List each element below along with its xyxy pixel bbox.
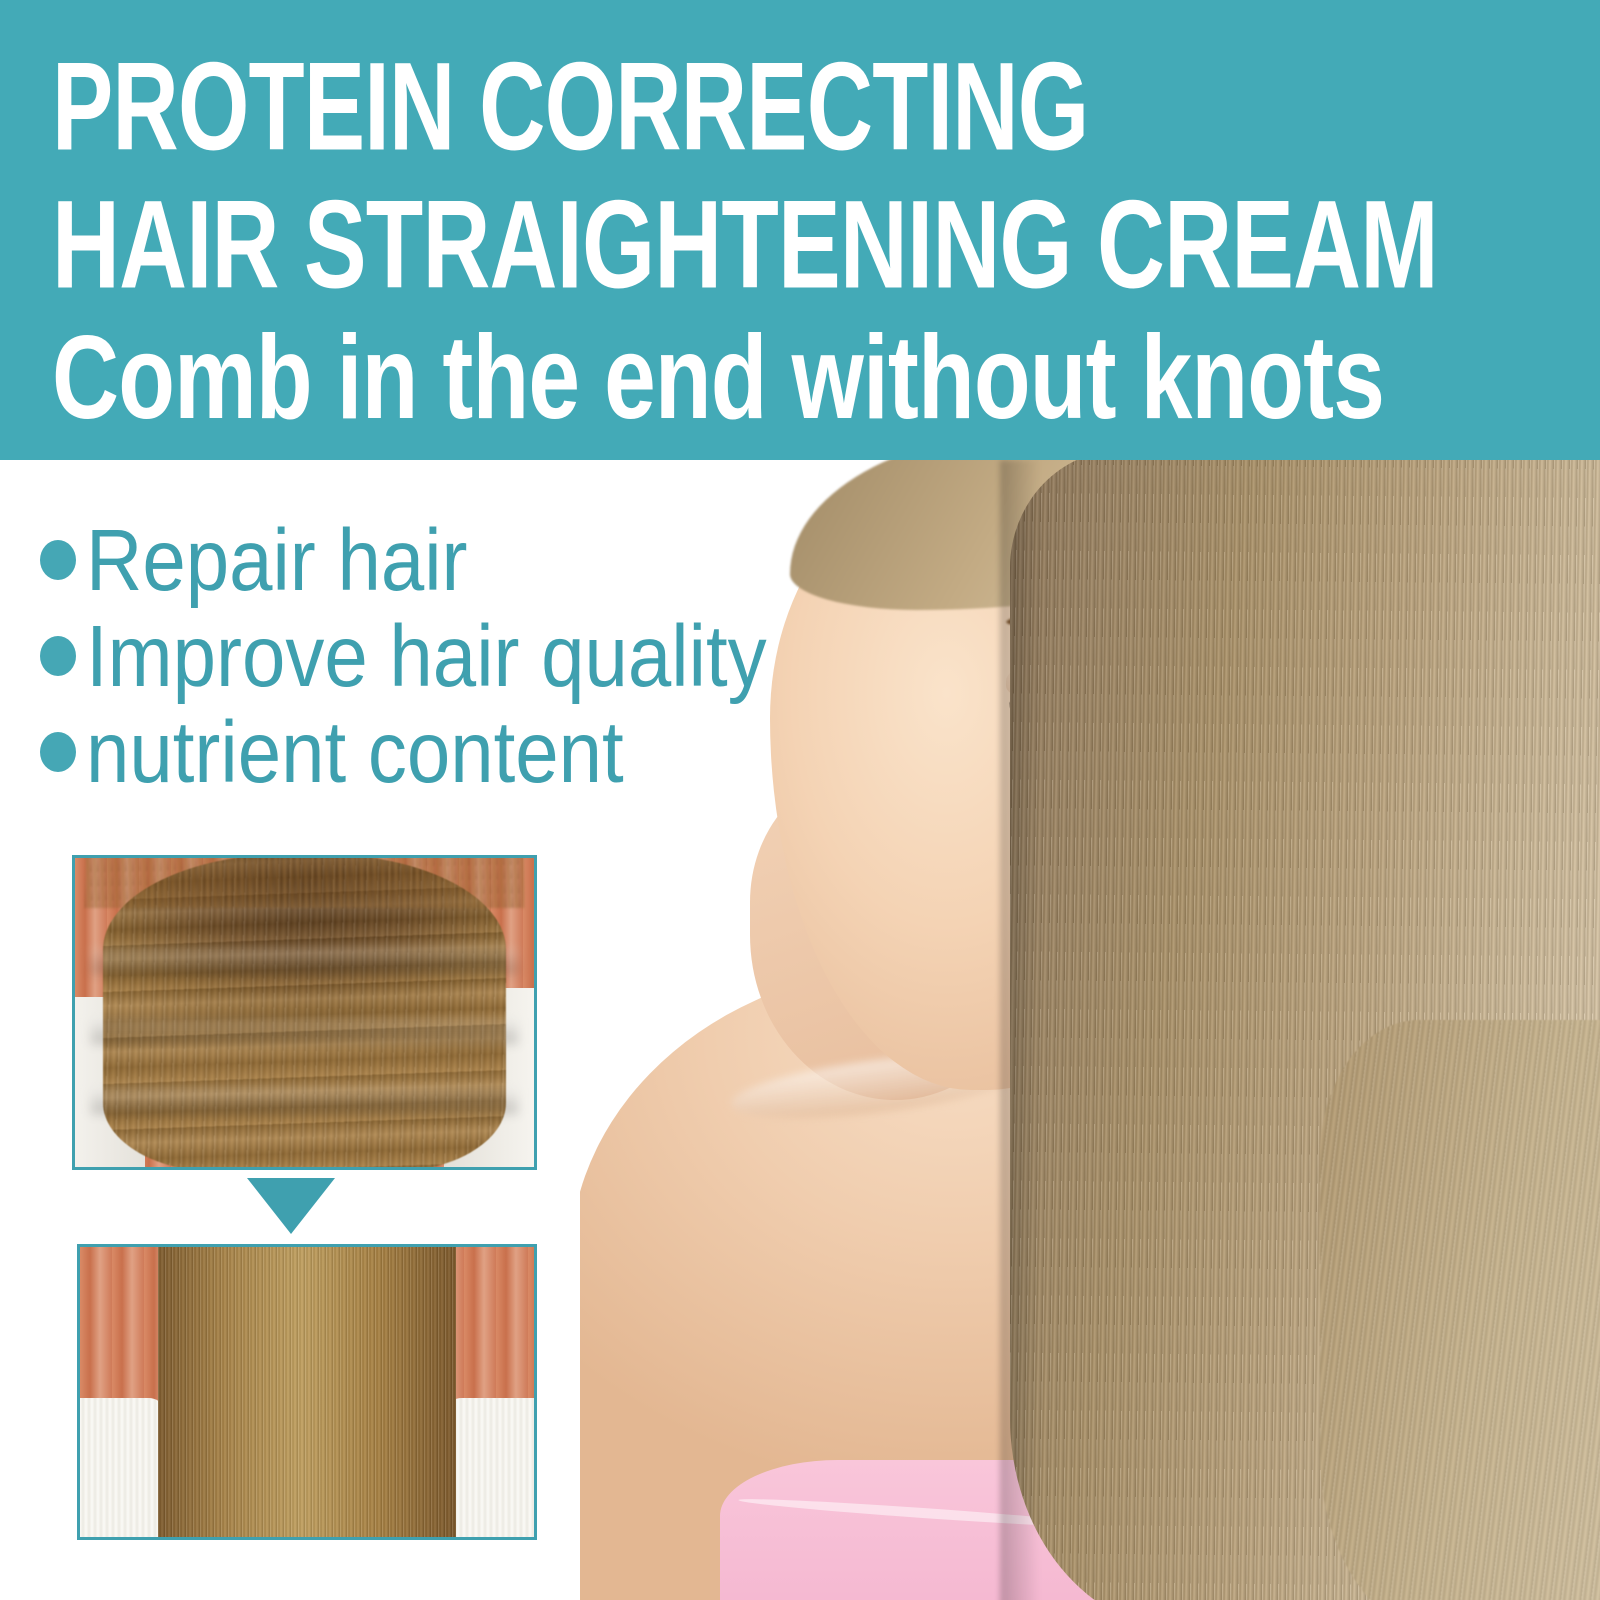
after-photo [77,1244,537,1540]
before-hair-frizz-halo [85,855,524,908]
before-hair-wave-3 [91,1088,518,1114]
benefit-label: nutrient content [86,708,624,795]
list-item: nutrient content [40,704,840,800]
list-item: Improve hair quality [40,608,840,704]
bullet-dot-icon [40,636,76,676]
bullet-dot-icon [40,732,76,772]
before-hair-wave-2 [91,1018,518,1044]
hair-lower-flare [1320,1020,1600,1600]
before-hair-wave-1 [91,948,518,974]
hair-edge-shadow [1000,460,1040,1600]
before-photo [72,855,537,1170]
header-banner: PROTEIN CORRECTING HAIR STRAIGHTENING CR… [0,0,1600,460]
headline-line-3: Comb in the end without knots [52,318,1384,437]
arrow-down-icon [247,1178,335,1234]
headline-line-1: PROTEIN CORRECTING [52,44,1088,169]
bullet-dot-icon [40,540,76,580]
benefit-label: Repair hair [86,516,468,603]
headline-line-2: HAIR STRAIGHTENING CREAM [52,182,1438,307]
after-hair-straight [158,1244,456,1540]
list-item: Repair hair [40,512,840,608]
benefit-label: Improve hair quality [86,612,767,699]
benefits-list: Repair hair Improve hair quality nutrien… [40,512,840,800]
product-ad-page: PROTEIN CORRECTING HAIR STRAIGHTENING CR… [0,0,1600,1600]
